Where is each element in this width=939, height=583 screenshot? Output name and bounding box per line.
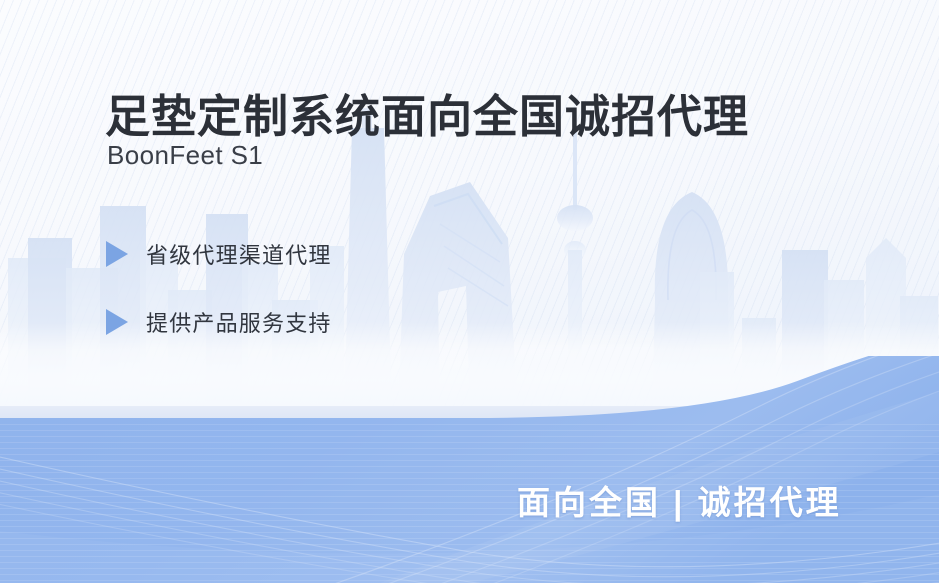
triangle-right-icon [106,309,128,335]
product-subtitle: BoonFeet S1 [107,140,263,171]
banner-background-graphic [0,356,939,583]
feature-label: 省级代理渠道代理 [146,238,332,270]
banner-tagline: 面向全国 | 诚招代理 [517,476,842,524]
promo-poster: 足垫定制系统面向全国诚招代理 BoonFeet S1 省级代理渠道代理 提供产品… [0,0,939,583]
footer-banner [0,356,939,583]
list-item: 省级代理渠道代理 [106,237,332,271]
feature-label: 提供产品服务支持 [146,306,332,338]
feature-list: 省级代理渠道代理 提供产品服务支持 [106,237,332,373]
list-item: 提供产品服务支持 [106,305,332,339]
triangle-right-icon [106,241,128,267]
page-title: 足垫定制系统面向全国诚招代理 [105,80,749,145]
